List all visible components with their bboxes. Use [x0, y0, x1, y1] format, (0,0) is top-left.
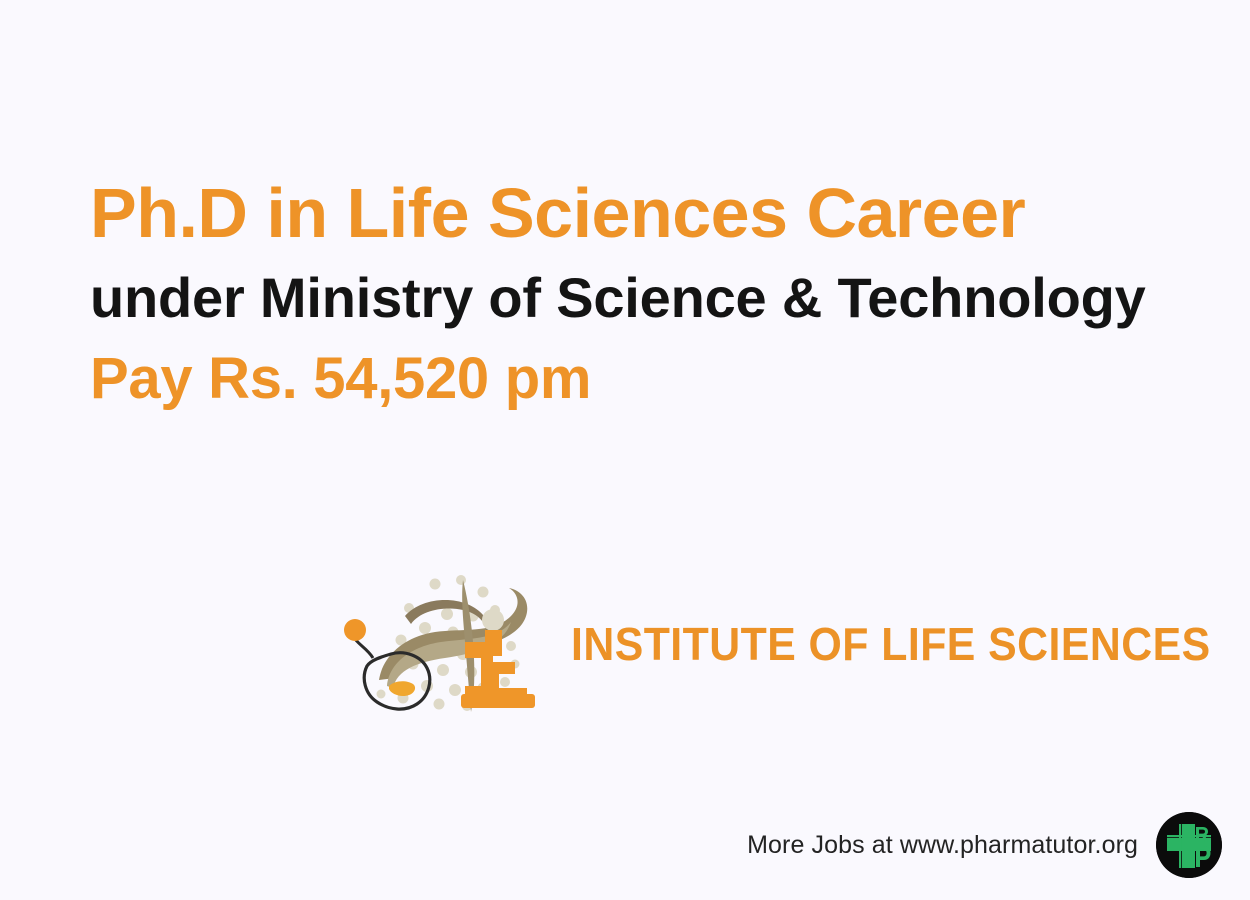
institute-logo-lockup: INSTITUTE OF LIFE SCIENCES: [343, 570, 1250, 718]
headline-line-3-pay: Pay Rs. 54,520 pm: [90, 350, 1190, 408]
headline-line-2: under Ministry of Science & Technology: [90, 270, 1190, 326]
institute-logo-wordmark: INSTITUTE OF LIFE SCIENCES: [571, 617, 1211, 671]
poster-canvas: Ph.D in Life Sciences Career under Minis…: [0, 0, 1250, 900]
pharmatutor-logo: [1156, 812, 1222, 878]
headline-line-1: Ph.D in Life Sciences Career: [90, 178, 1190, 248]
headline-block: Ph.D in Life Sciences Career under Minis…: [90, 178, 1190, 408]
footer: More Jobs at www.pharmatutor.org: [747, 812, 1222, 878]
footer-more-jobs-text: More Jobs at www.pharmatutor.org: [747, 831, 1138, 860]
institute-of-life-sciences-emblem: [343, 570, 563, 718]
